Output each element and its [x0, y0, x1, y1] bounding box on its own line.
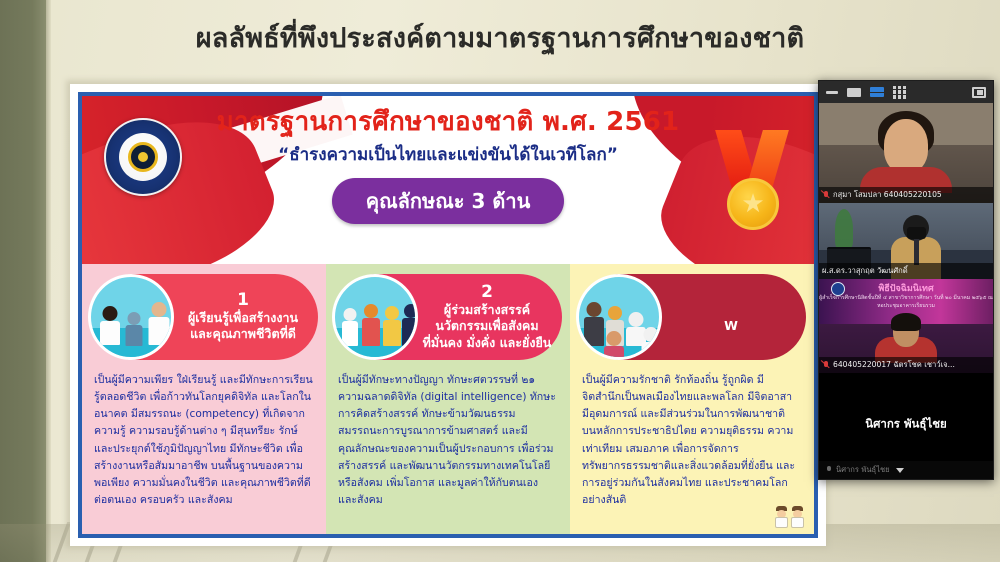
column-2-heading-line3: ที่มั่นคง มั่งคั่ง และยั่งยืน — [420, 335, 554, 352]
participant-name: 640405220017 ฉัตรโชค เชาว์เจ... — [833, 359, 955, 371]
column-1-heading-line1: ผู้เรียนรู้เพื่อสร้างงาน — [176, 310, 310, 327]
professions-illustration-icon — [332, 274, 418, 360]
mascot-figures-icon — [775, 506, 804, 528]
page-title: ผลลัพธ์ที่พึงประสงค์ตามมาตรฐานการศึกษาขอ… — [0, 16, 1000, 59]
slide-header: ★ มาตรฐานการศึกษาของชาติ พ.ศ. 2561 “ธำรง… — [82, 96, 814, 264]
column-2-header: 2 ผู้ร่วมสร้างสรรค์ นวัตกรรมเพื่อสังคม ท… — [334, 274, 562, 360]
column-1-header: 1 ผู้เรียนรู้เพื่อสร้างงาน และคุณภาพชีวิ… — [90, 274, 318, 360]
video-panel-toolbar[interactable] — [819, 81, 993, 103]
column-2-heading-line2: นวัตกรรมเพื่อสังคม — [420, 318, 554, 335]
participant-tile[interactable]: พิธีปัจฉิมนิเทศ ผู้สำเร็จการศึกษานิสิตชั… — [819, 279, 993, 373]
diverse-people-illustration-icon — [576, 274, 662, 360]
self-video-tile[interactable]: นิศากร พันธุ์ไชย นิศากร พันธุ์ไชย — [819, 373, 993, 479]
column-citizen: 3 W เป็นผู้มีความรักชาติ รักท้องถิ่น รู้… — [570, 264, 814, 534]
split-view-icon[interactable] — [870, 87, 884, 97]
column-learner: 1 ผู้เรียนรู้เพื่อสร้างงาน และคุณภาพชีวิ… — [82, 264, 326, 534]
column-3-body: เป็นผู้มีความรักชาติ รักท้องถิ่น รู้ถูกผ… — [570, 366, 814, 515]
column-1-heading-line2: และคุณภาพชีวิตที่ดี — [176, 326, 310, 343]
participant-name: กสุมา โสมปลา 640405220105 — [833, 189, 942, 201]
mic-icon[interactable] — [825, 466, 832, 474]
column-2-heading-line1: ผู้ร่วมสร้างสรรค์ — [420, 302, 554, 319]
participant-name-bar: ผ.ส.ดร.วาสุกฤต วัฒนศักดิ์ — [819, 263, 993, 279]
participant-name: ผ.ส.ดร.วาสุกฤต วัฒนศักดิ์ — [822, 265, 908, 277]
slide-title: มาตรฐานการศึกษาของชาติ พ.ศ. 2561 — [82, 106, 814, 139]
column-1-number: 1 — [176, 291, 310, 310]
wall-side-panel — [0, 0, 46, 562]
mic-muted-icon — [822, 191, 830, 200]
column-1-body: เป็นผู้มีความเพียร ใฝ่เรียนรู้ และมีทักษ… — [82, 366, 326, 515]
column-3-heading-line1: W — [664, 318, 798, 335]
single-view-icon[interactable] — [847, 88, 861, 97]
participant-name-bar: 640405220017 ฉัตรโชค เชาว์เจ... — [819, 357, 993, 373]
event-banner-subtitle: ผู้สำเร็จการศึกษานิสิตชั้นปีที่ ๔ สาขาวิ… — [819, 295, 993, 311]
participant-tile[interactable]: ผ.ส.ดร.วาสุกฤต วัฒนศักดิ์ — [819, 203, 993, 279]
columns-container: 1 ผู้เรียนรู้เพื่อสร้างงาน และคุณภาพชีวิ… — [82, 264, 814, 534]
learners-illustration-icon — [88, 274, 174, 360]
wall-seam — [46, 0, 51, 562]
presentation-slide: ★ มาตรฐานการศึกษาของชาติ พ.ศ. 2561 “ธำรง… — [70, 84, 826, 546]
chevron-down-icon[interactable] — [896, 468, 904, 473]
minimize-icon[interactable] — [826, 91, 838, 94]
characteristics-pill: คุณลักษณะ 3 ด้าน — [332, 178, 565, 224]
self-name-bar[interactable]: นิศากร พันธุ์ไชย — [819, 461, 993, 479]
mic-muted-icon — [822, 361, 830, 370]
slide-subtitle: “ธำรงความเป็นไทยและแข่งขันได้ในเวทีโลก” — [82, 141, 814, 168]
event-banner-title: พิธีปัจฉิมนิเทศ — [819, 281, 993, 295]
column-innovator: 2 ผู้ร่วมสร้างสรรค์ นวัตกรรมเพื่อสังคม ท… — [326, 264, 570, 534]
self-display-name: นิศากร พันธุ์ไชย — [819, 416, 993, 434]
participant-tile[interactable]: กสุมา โสมปลา 640405220105 — [819, 103, 993, 203]
column-3-header: 3 W — [578, 274, 806, 360]
column-2-number: 2 — [420, 283, 554, 302]
video-conference-panel[interactable]: กสุมา โสมปลา 640405220105 ผ.ส.ดร.วาสุกฤต… — [818, 80, 994, 480]
column-2-body: เป็นผู้มีทักษะทางปัญญา ทักษะศตวรรษที่ ๒๑… — [326, 366, 570, 515]
grid-view-icon[interactable] — [893, 86, 906, 99]
participant-name-bar: กสุมา โสมปลา 640405220105 — [819, 187, 993, 203]
self-name-label: นิศากร พันธุ์ไชย — [836, 464, 890, 476]
picture-in-picture-icon[interactable] — [972, 87, 986, 98]
